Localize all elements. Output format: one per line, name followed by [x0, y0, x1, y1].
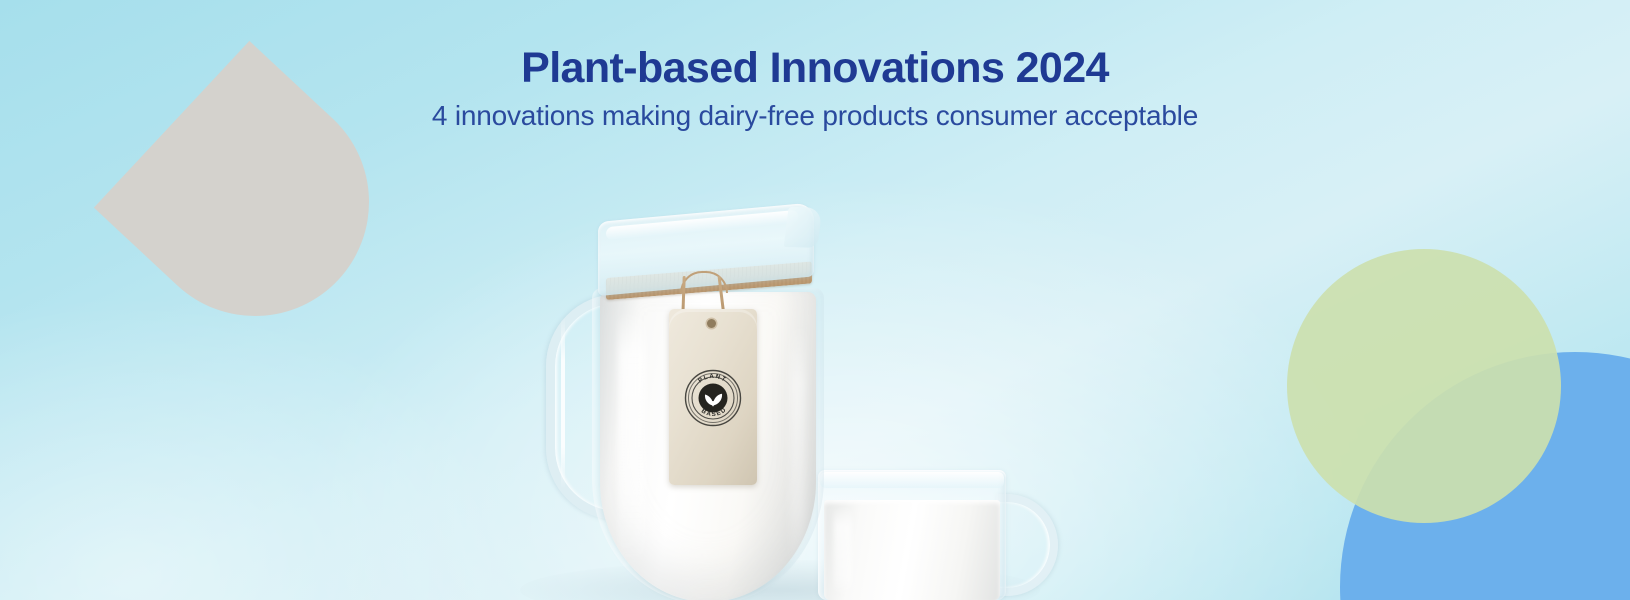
plant-based-innovations-banner: Plant-based Innovations 2024 4 innovatio… [0, 0, 1630, 600]
tag-string-right [718, 276, 726, 316]
glass-mug-of-plant-milk [818, 470, 1030, 600]
pitcher-rim-and-spout [598, 202, 814, 296]
banner-heading-group: Plant-based Innovations 2024 4 innovatio… [0, 44, 1630, 133]
pitcher-handle [546, 294, 633, 520]
tag-eyelet-hole [707, 319, 716, 328]
plant-based-stamp-icon: PLANT BASED [684, 369, 742, 427]
pitcher-glass-highlight [592, 288, 824, 600]
product-ground-shadow [520, 560, 1040, 600]
pitcher-cork-band [606, 261, 812, 300]
mug-milk-fill [824, 500, 1000, 600]
stamp-bottom-label: BASED [700, 406, 728, 418]
page-title: Plant-based Innovations 2024 [0, 44, 1630, 92]
kraft-paper-hang-tag: PLANT BASED [668, 276, 764, 488]
svg-text:BASED: BASED [700, 406, 728, 418]
stamp-top-label: PLANT [697, 373, 728, 385]
pitcher-milk-fill [600, 292, 816, 600]
mug-handle [996, 494, 1058, 596]
tag-card: PLANT BASED [669, 309, 757, 485]
svg-text:PLANT: PLANT [697, 373, 728, 385]
page-subtitle: 4 innovations making dairy-free products… [0, 99, 1630, 133]
mug-glass-body [818, 470, 1006, 600]
mug-rim [820, 472, 1004, 488]
pale-green-circle-shape [1287, 249, 1561, 523]
tag-string-arc [680, 271, 728, 293]
tag-string-left [681, 276, 685, 318]
glass-pitcher-of-plant-milk [548, 222, 816, 600]
